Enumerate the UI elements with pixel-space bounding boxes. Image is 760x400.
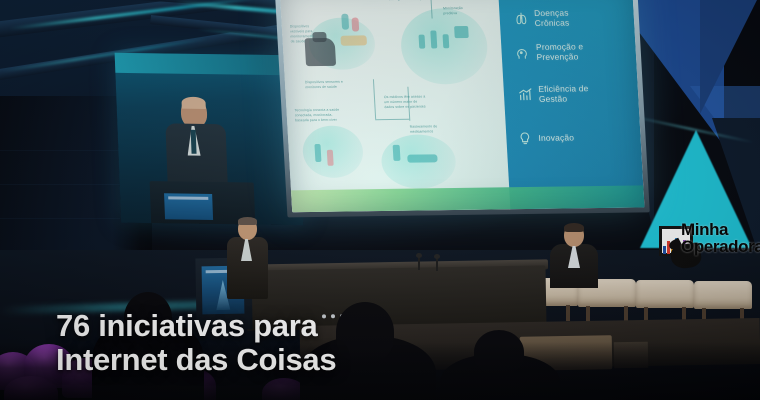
illustration-object <box>407 154 437 162</box>
illustration-person <box>341 14 349 30</box>
illustration-caption: Processamento de sistemas que podem trab… <box>388 0 469 2</box>
objective-label: Promoção e Prevenção <box>536 42 584 62</box>
illustration-person <box>351 18 359 32</box>
objective-item-doencas-cronicas: Doenças Crônicas <box>513 9 570 30</box>
chair-leg <box>586 306 590 322</box>
illustration-person <box>430 30 437 48</box>
feed-backdrop-band <box>115 53 302 76</box>
facet-panel-blue <box>700 0 760 114</box>
illustration-caption: Monitoração preditiva <box>443 6 484 16</box>
panel-chair <box>694 281 752 321</box>
panelist-hair <box>564 223 584 232</box>
seated-panelist <box>548 224 600 284</box>
slide-illustration-area: Dispositivos vestíveis para monitorament… <box>279 0 510 212</box>
objective-item-inovacao: Inovação <box>517 130 574 146</box>
illustration-object <box>454 26 469 38</box>
illustration-person <box>443 34 450 48</box>
illustration-caption: Os médicos têm acesso a um número maior … <box>384 94 443 110</box>
feed-speaker-figure <box>158 97 238 194</box>
illustration-caption: Dispositivos vestíveis para monitorament… <box>290 24 331 44</box>
feed-speaker-tie <box>191 130 197 154</box>
watermark-logo: Minha Operadora <box>657 218 757 270</box>
objective-item-promocao-prevencao: Promoção e Prevenção <box>515 42 584 63</box>
conference-photo: Dispositivos vestíveis para monitorament… <box>0 0 760 400</box>
illustration-person <box>419 35 426 49</box>
illustration-object <box>340 35 367 45</box>
illustration-caption: Rastreamento de medicamentos <box>410 124 461 135</box>
illustration-connector <box>375 119 409 120</box>
bar-chart-growth-icon <box>517 87 533 102</box>
illustration-person <box>393 145 401 161</box>
feed-speaker-hair <box>181 97 205 109</box>
lightbulb-idea-icon <box>517 131 533 146</box>
panel-chair <box>636 280 694 320</box>
objective-label: Eficiência de Gestão <box>538 84 589 104</box>
slide-objectives-panel: Objetivos Doenças Crônicas <box>498 0 645 209</box>
illustration-connector <box>373 79 376 119</box>
illustration-caption: Tecnologia conecta a saúde conectada, mo… <box>294 108 353 124</box>
illustration-caption: Dispositivos sensores e monitores de saú… <box>305 79 360 90</box>
lungs-icon <box>513 12 529 27</box>
microphone <box>418 256 420 270</box>
watermark-text: Minha Operadora <box>681 222 760 255</box>
speaker-hair <box>238 217 257 225</box>
feed-podium-signage <box>164 193 213 220</box>
illustration-person <box>327 150 334 166</box>
chair-leg <box>566 305 570 321</box>
microphone <box>436 257 438 271</box>
chair-back <box>694 281 752 309</box>
speaker-video-feed-screen <box>115 53 304 225</box>
projection-screen: Dispositivos vestíveis para monitorament… <box>279 0 644 212</box>
objective-item-eficiencia-gestao: Eficiência de Gestão <box>517 84 589 105</box>
head-profile-icon <box>515 45 531 60</box>
objective-label: Inovação <box>538 133 574 143</box>
headline-caption: 76 iniciativas para Internet das Coisas <box>56 309 476 378</box>
feed-podium-logo <box>168 196 208 200</box>
signal-bar <box>663 246 666 254</box>
presentation-slide: Dispositivos vestíveis para monitorament… <box>279 0 644 212</box>
objective-label: Doenças Crônicas <box>534 9 570 29</box>
illustration-person <box>314 144 321 162</box>
chair-back <box>636 280 694 308</box>
